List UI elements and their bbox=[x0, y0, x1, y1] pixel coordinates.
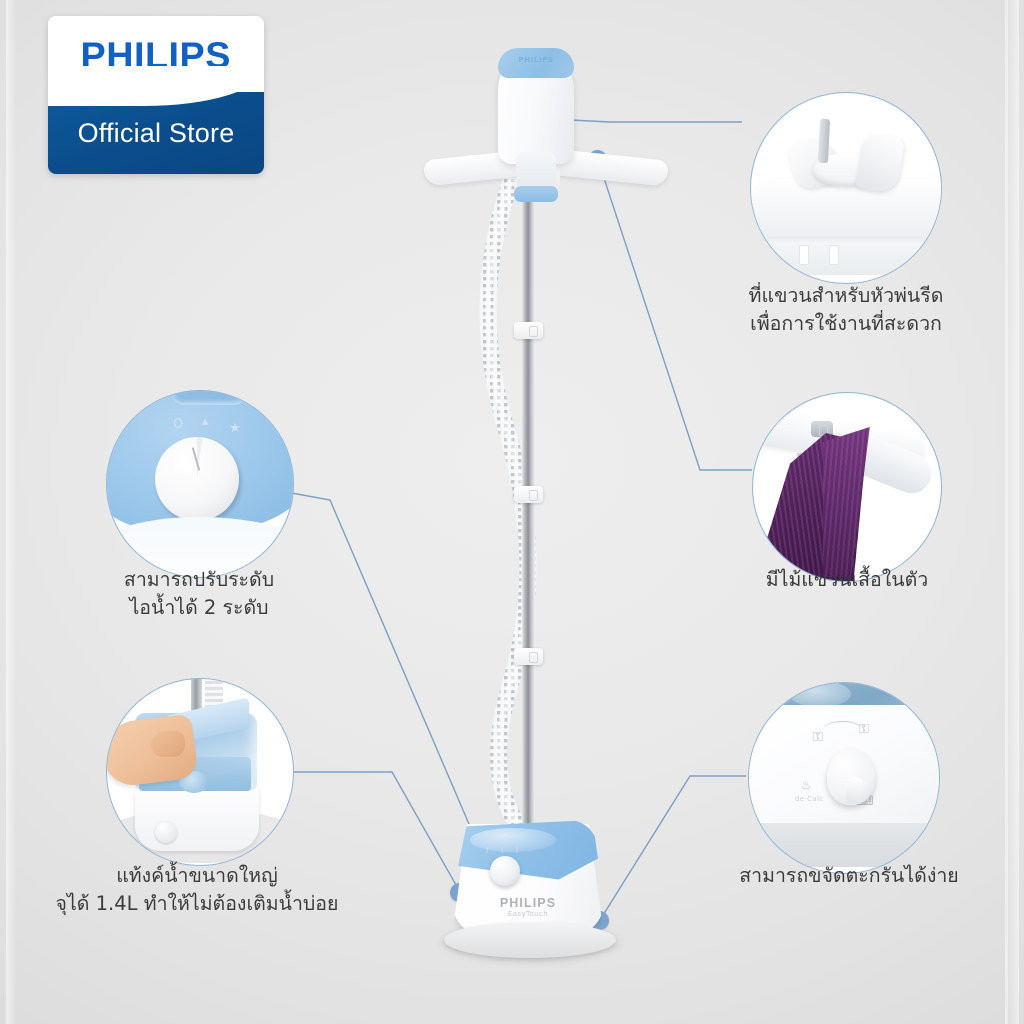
pole-clip bbox=[514, 486, 543, 503]
housing-notch bbox=[173, 390, 245, 405]
feature-caption-easy-descaling: สามารถขจัดตะกรันได้ง่าย bbox=[706, 862, 992, 890]
steam-head-collar bbox=[514, 186, 558, 202]
infographic-canvas: PHILIPS Official Store bbox=[0, 0, 1024, 1024]
descaling-knob bbox=[827, 749, 875, 805]
lock-icon: ⚿ bbox=[859, 723, 869, 736]
holder-slot bbox=[829, 245, 839, 265]
feature-image-built-in-hanger bbox=[752, 392, 942, 582]
steam-hose bbox=[440, 178, 580, 838]
feature-image-easy-descaling: ⚿ ⚿ ♨ de-Calc ⌨ bbox=[748, 682, 940, 874]
base-shadow-band bbox=[748, 823, 940, 867]
dial-mark-off: O bbox=[173, 417, 183, 432]
unlock-icon: ⚿ bbox=[813, 731, 823, 744]
steam-head-neck bbox=[516, 152, 556, 190]
hand-thumb bbox=[151, 731, 185, 757]
water-drop-icon: ♨ bbox=[801, 779, 812, 791]
steam-level-dial bbox=[155, 437, 239, 521]
base-floor-plate bbox=[444, 922, 616, 958]
descale-label: de-Calc bbox=[795, 795, 823, 803]
feature-caption-steam-levels: สามารถปรับระดับ ไอน้ำได้ 2 ระดับ bbox=[66, 566, 332, 623]
dial-mark-high-icon: ★ bbox=[229, 421, 241, 436]
base-knob-small bbox=[155, 821, 177, 843]
feature-caption-built-in-hanger: มีไม้แขวนเสื้อในตัว bbox=[716, 566, 978, 594]
feature-image-steam-levels: O ▴ ★ bbox=[106, 390, 294, 578]
holder-base bbox=[761, 235, 931, 275]
feature-image-nozzle-holder bbox=[750, 92, 942, 284]
feature-image-water-tank bbox=[106, 678, 294, 866]
dial-mark-low-icon: ▴ bbox=[202, 414, 209, 429]
steam-level-knob[interactable] bbox=[490, 856, 520, 886]
pole-clip bbox=[514, 322, 543, 339]
holder-slot bbox=[799, 245, 809, 265]
base-model-label: EasyTouch bbox=[452, 910, 604, 918]
steam-head-assembly: PHILIPS bbox=[420, 48, 670, 228]
base-brand-logo: PHILIPS bbox=[452, 896, 604, 910]
holder-bar bbox=[750, 179, 942, 237]
telescopic-pole bbox=[522, 160, 535, 850]
feature-caption-nozzle-holder: ที่แขวนสำหรับหัวพ่นรีด เพื่อการใช้งานที่… bbox=[712, 282, 980, 339]
feature-caption-water-tank: แท้งค์น้ำขนาดใหญ่ จุได้ 1.4L ทำให้ไม่ต้อ… bbox=[12, 862, 382, 919]
base-white-body bbox=[135, 783, 259, 851]
pole-clip bbox=[514, 648, 543, 665]
steam-head-logo: PHILIPS bbox=[498, 56, 574, 64]
knob-rotation-arc bbox=[823, 721, 863, 740]
base-dial-ticks: I I I bbox=[486, 846, 532, 856]
